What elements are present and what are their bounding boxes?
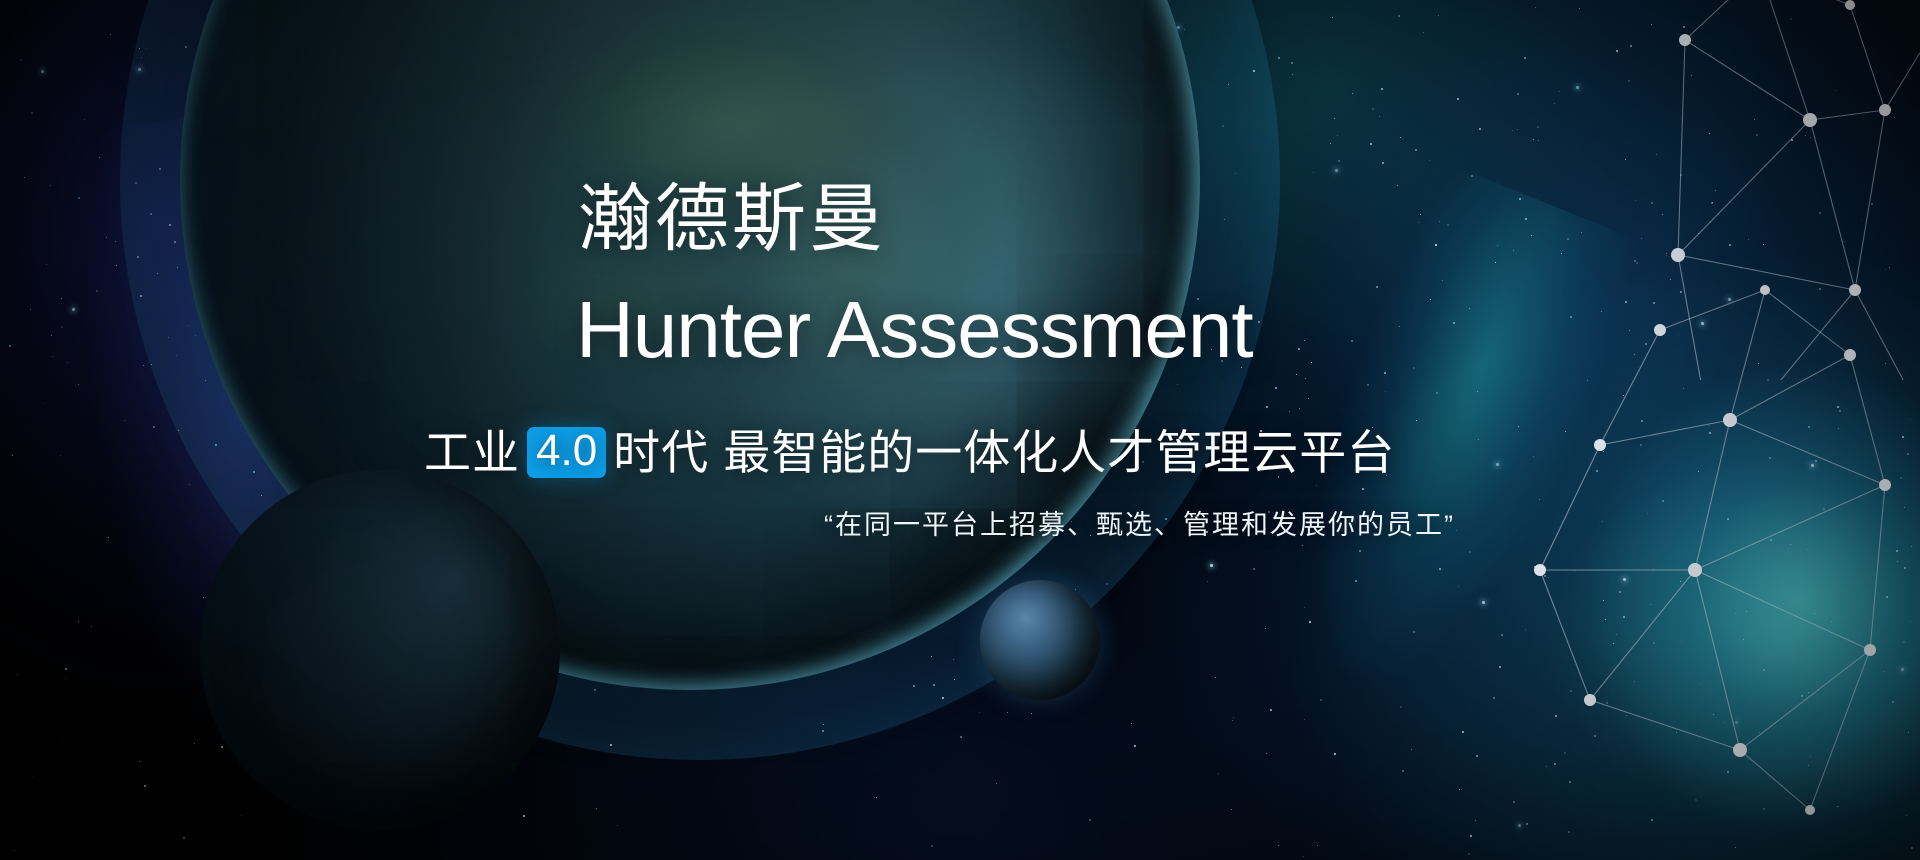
hero-copy: 瀚德斯曼 Hunter Assessment 工业 4.0 时代 最智能的一体化… (0, 0, 1920, 860)
tagline-quote: “在同一平台上招募、甄选、管理和发展你的员工” (824, 508, 1455, 543)
brand-title-cn: 瀚德斯曼 (578, 182, 886, 256)
brand-title-en: Hunter Assessment (576, 290, 1253, 370)
tagline-suffix: 时代 最智能的一体化人才管理云平台 (613, 425, 1395, 480)
industry-version-badge: 4.0 (527, 427, 606, 478)
hero-banner: 瀚德斯曼 Hunter Assessment 工业 4.0 时代 最智能的一体化… (0, 0, 1920, 860)
tagline: 工业 4.0 时代 最智能的一体化人才管理云平台 (424, 425, 1395, 480)
tagline-prefix: 工业 (424, 425, 520, 480)
